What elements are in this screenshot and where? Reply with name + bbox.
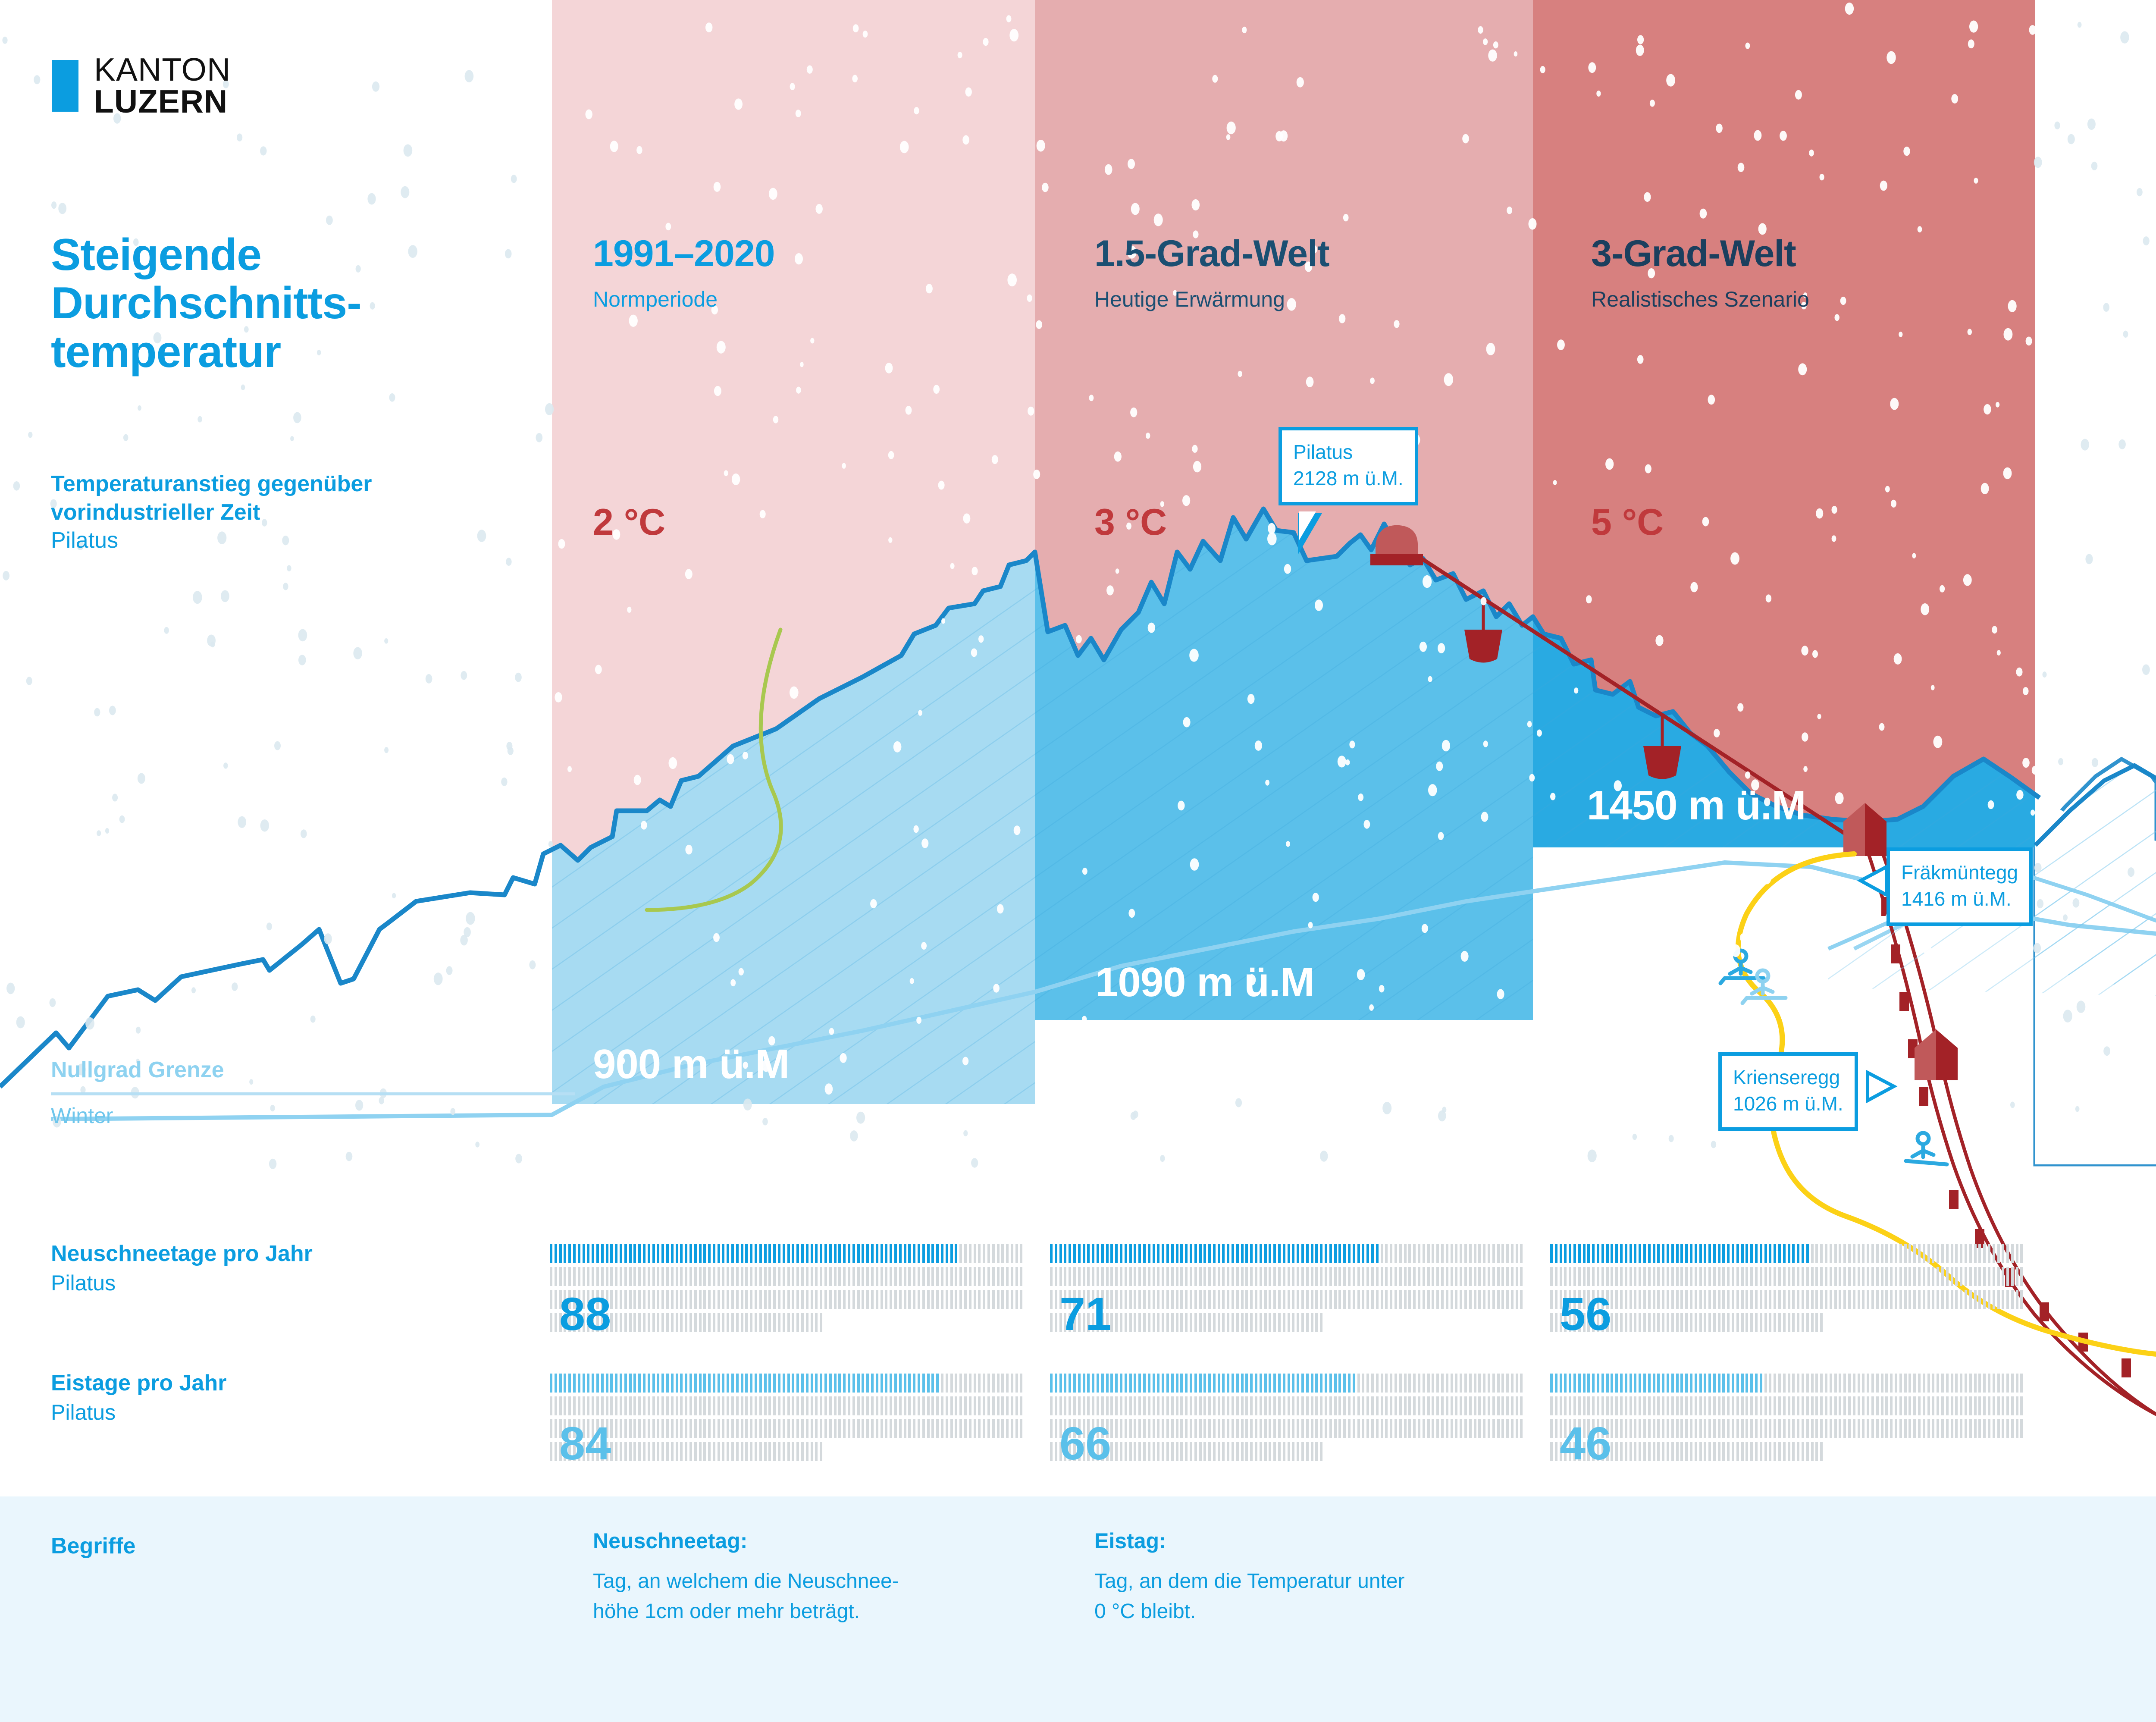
bar-tick bbox=[1615, 1267, 1618, 1286]
bar-tick bbox=[1423, 1290, 1425, 1309]
bar-tick bbox=[633, 1419, 636, 1438]
bar-tick bbox=[1185, 1313, 1188, 1332]
bar-tick bbox=[1208, 1313, 1211, 1332]
bar-tick bbox=[1436, 1419, 1439, 1438]
bar-tick bbox=[1662, 1396, 1664, 1415]
bar-tick bbox=[1904, 1374, 1907, 1393]
bar-tick bbox=[1685, 1290, 1688, 1309]
bar-tick bbox=[997, 1267, 1000, 1286]
bar-tick bbox=[1648, 1442, 1651, 1461]
bar-tick bbox=[1974, 1267, 1977, 1286]
bar-tick bbox=[1157, 1313, 1159, 1332]
bar-tick bbox=[1904, 1419, 1907, 1438]
bar-tick bbox=[606, 1267, 608, 1286]
bar-tick bbox=[680, 1290, 683, 1309]
bar-tick bbox=[1125, 1442, 1127, 1461]
bar-tick bbox=[1699, 1267, 1702, 1286]
bar-tick bbox=[1371, 1290, 1374, 1309]
bar-tick bbox=[778, 1396, 780, 1415]
bar-tick bbox=[918, 1396, 920, 1415]
bar-tick bbox=[1213, 1419, 1216, 1438]
bar-tick bbox=[2016, 1374, 2018, 1393]
bar-tick bbox=[1741, 1267, 1744, 1286]
bar-tick bbox=[685, 1244, 687, 1263]
bar-tick bbox=[718, 1244, 720, 1263]
bar-tick bbox=[1671, 1313, 1674, 1332]
bar-tick bbox=[959, 1374, 962, 1393]
bar-tick bbox=[1946, 1267, 1949, 1286]
bar-tick bbox=[787, 1290, 790, 1309]
bar-tick bbox=[2006, 1244, 2009, 1263]
bar-tick bbox=[1073, 1396, 1076, 1415]
bar-tick bbox=[1297, 1419, 1299, 1438]
bar-tick bbox=[1078, 1267, 1081, 1286]
bar-tick bbox=[1492, 1419, 1495, 1438]
bar-tick bbox=[1653, 1396, 1655, 1415]
bar-tick bbox=[1811, 1313, 1814, 1332]
scenario-header-1991-2020: 1991–2020 Normperiode bbox=[593, 235, 774, 310]
callout-fraekmuentegg: Fräkmüntegg 1416 m ü.M. bbox=[1887, 847, 2033, 926]
bar-tick bbox=[1343, 1419, 1346, 1438]
bar-tick bbox=[1176, 1442, 1178, 1461]
bar-tick bbox=[1788, 1442, 1790, 1461]
bar-tick bbox=[1315, 1374, 1318, 1393]
bar-tick bbox=[1288, 1290, 1290, 1309]
bar-tick bbox=[1983, 1419, 1986, 1438]
bar-tick bbox=[615, 1442, 617, 1461]
bar-tick bbox=[922, 1290, 925, 1309]
bar-tick bbox=[1978, 1290, 1981, 1309]
bar-tick bbox=[1764, 1313, 1767, 1332]
bar-tick bbox=[1222, 1419, 1225, 1438]
bar-tick bbox=[676, 1267, 678, 1286]
bar-tick bbox=[1020, 1290, 1022, 1309]
bar-tick bbox=[838, 1396, 841, 1415]
bar-tick bbox=[1120, 1419, 1122, 1438]
bar-tick bbox=[1685, 1313, 1688, 1332]
bar-tick bbox=[1676, 1244, 1679, 1263]
bar-tick bbox=[722, 1442, 724, 1461]
bar-tick bbox=[633, 1313, 636, 1332]
bar-tick bbox=[708, 1244, 711, 1263]
bar-tick bbox=[1713, 1442, 1716, 1461]
callout-pilatus: Pilatus 2128 m ü.M. bbox=[1279, 427, 1418, 505]
bar-tick bbox=[1213, 1396, 1216, 1415]
bar-tick bbox=[834, 1396, 837, 1415]
bar-tick bbox=[699, 1244, 702, 1263]
bar-tick bbox=[731, 1442, 734, 1461]
bar-tick bbox=[559, 1396, 562, 1415]
bar-tick bbox=[815, 1313, 818, 1332]
bar-tick bbox=[573, 1267, 576, 1286]
bar-tick bbox=[1657, 1374, 1660, 1393]
bar-tick bbox=[834, 1374, 837, 1393]
bar-tick bbox=[1690, 1419, 1692, 1438]
bar-tick bbox=[708, 1396, 711, 1415]
bar-tick bbox=[1634, 1396, 1636, 1415]
bar-tick bbox=[824, 1396, 827, 1415]
bar-tick bbox=[1436, 1374, 1439, 1393]
bar-tick bbox=[1148, 1374, 1150, 1393]
bar-row bbox=[550, 1313, 1025, 1332]
bar-tick bbox=[1455, 1290, 1457, 1309]
bar-tick bbox=[657, 1396, 659, 1415]
bar-tick bbox=[1871, 1419, 1874, 1438]
bar-tick bbox=[931, 1396, 934, 1415]
bar-tick bbox=[1166, 1419, 1169, 1438]
bar-tick bbox=[1639, 1313, 1641, 1332]
logo-mark-icon bbox=[52, 60, 78, 112]
bar-tick bbox=[1236, 1396, 1239, 1415]
bar-tick bbox=[1830, 1374, 1832, 1393]
bar-tick bbox=[1520, 1396, 1523, 1415]
bar-tick bbox=[1441, 1374, 1444, 1393]
bar-tick bbox=[974, 1419, 976, 1438]
bar-tick bbox=[992, 1374, 995, 1393]
bar-tick bbox=[731, 1290, 734, 1309]
bar-tick bbox=[1983, 1374, 1986, 1393]
bar-tick bbox=[1395, 1396, 1397, 1415]
bar-tick bbox=[1843, 1290, 1846, 1309]
bar-tick bbox=[1497, 1374, 1500, 1393]
bar-tick bbox=[1778, 1396, 1781, 1415]
bar-tick bbox=[1469, 1374, 1472, 1393]
bar-tick bbox=[1918, 1244, 1921, 1263]
bar-tick bbox=[997, 1290, 1000, 1309]
bar-tick bbox=[829, 1419, 832, 1438]
bar-tick bbox=[1560, 1267, 1562, 1286]
bar-tick bbox=[1260, 1419, 1262, 1438]
bar-tick bbox=[1932, 1374, 1934, 1393]
bar-tick bbox=[1516, 1290, 1518, 1309]
bar-tick bbox=[610, 1374, 613, 1393]
bar-tick bbox=[824, 1419, 827, 1438]
bar-tick bbox=[1138, 1244, 1141, 1263]
bar-tick bbox=[1418, 1396, 1420, 1415]
bar-tick bbox=[1704, 1374, 1706, 1393]
bar-tick bbox=[950, 1267, 953, 1286]
bar-tick bbox=[1292, 1267, 1294, 1286]
bar-tick bbox=[1059, 1244, 1062, 1263]
bar-tick bbox=[1245, 1244, 1248, 1263]
bar-tick bbox=[1769, 1267, 1771, 1286]
bar-tick bbox=[1802, 1267, 1804, 1286]
bar-tick bbox=[1732, 1374, 1734, 1393]
bar-tick bbox=[1255, 1374, 1257, 1393]
bar-tick bbox=[1413, 1290, 1416, 1309]
bar-tick bbox=[796, 1442, 799, 1461]
bar-tick bbox=[1255, 1396, 1257, 1415]
bar-tick bbox=[885, 1396, 887, 1415]
bar-tick bbox=[1255, 1313, 1257, 1332]
bar-tick bbox=[578, 1244, 580, 1263]
bar-tick bbox=[1797, 1313, 1799, 1332]
bar-tick bbox=[1338, 1290, 1341, 1309]
bar-tick bbox=[1848, 1419, 1851, 1438]
bar-row bbox=[1550, 1396, 2025, 1415]
bar-tick bbox=[1550, 1290, 1553, 1309]
bar-tick bbox=[718, 1374, 720, 1393]
bar-tick bbox=[1918, 1419, 1921, 1438]
bar-tick bbox=[1283, 1267, 1285, 1286]
bar-tick bbox=[834, 1290, 837, 1309]
bar-tick bbox=[1676, 1290, 1679, 1309]
bar-tick bbox=[852, 1419, 855, 1438]
bar-tick bbox=[1727, 1396, 1730, 1415]
bar-tick bbox=[1469, 1290, 1472, 1309]
callout-tail-pilatus-inner bbox=[1299, 511, 1316, 541]
bar-tick bbox=[1792, 1244, 1795, 1263]
bar-tick bbox=[1055, 1396, 1057, 1415]
bar-tick bbox=[1283, 1290, 1285, 1309]
bar-tick bbox=[792, 1374, 794, 1393]
bar-tick bbox=[922, 1374, 925, 1393]
bar-tick bbox=[694, 1419, 697, 1438]
bar-tick bbox=[1560, 1374, 1562, 1393]
bar-tick bbox=[601, 1374, 604, 1393]
bar-tick bbox=[1895, 1374, 1897, 1393]
bar-tick bbox=[1153, 1290, 1155, 1309]
bar-tick bbox=[824, 1290, 827, 1309]
bar-tick bbox=[866, 1419, 869, 1438]
bar-tick bbox=[792, 1267, 794, 1286]
bar-tick bbox=[685, 1442, 687, 1461]
bar-tick bbox=[699, 1267, 702, 1286]
bar-tick bbox=[1278, 1374, 1281, 1393]
bar-tick bbox=[750, 1244, 752, 1263]
bar-tick bbox=[1788, 1313, 1790, 1332]
bar-tick bbox=[699, 1442, 702, 1461]
bar-tick bbox=[727, 1419, 729, 1438]
bar-tick bbox=[666, 1290, 669, 1309]
scenario-title: 1991–2020 bbox=[593, 235, 774, 272]
bar-tick bbox=[1815, 1244, 1818, 1263]
bar-tick bbox=[643, 1290, 646, 1309]
bar-tick bbox=[1357, 1290, 1360, 1309]
bar-tick bbox=[1381, 1290, 1383, 1309]
bar-tick bbox=[1423, 1267, 1425, 1286]
bar-tick bbox=[1166, 1267, 1169, 1286]
bar-tick bbox=[1653, 1419, 1655, 1438]
bar-tick bbox=[1020, 1374, 1022, 1393]
bar-tick bbox=[1690, 1244, 1692, 1263]
bar-tick bbox=[1418, 1374, 1420, 1393]
bar-tick bbox=[1469, 1396, 1472, 1415]
bar-tick bbox=[1583, 1374, 1586, 1393]
bar-tick bbox=[1478, 1244, 1481, 1263]
bar-tick bbox=[1101, 1267, 1104, 1286]
bar-tick bbox=[1190, 1244, 1192, 1263]
bar-tick bbox=[1783, 1244, 1786, 1263]
bar-tick bbox=[1550, 1442, 1553, 1461]
bar-tick bbox=[1460, 1374, 1462, 1393]
bar-tick bbox=[587, 1374, 589, 1393]
bar-tick bbox=[1092, 1267, 1094, 1286]
bar-tick bbox=[904, 1244, 906, 1263]
bar-tick bbox=[1101, 1396, 1104, 1415]
bar-tick bbox=[1634, 1267, 1636, 1286]
bar-tick bbox=[1630, 1290, 1632, 1309]
bar-tick bbox=[1671, 1374, 1674, 1393]
page-title: Steigende Durchschnitts-temperatur bbox=[51, 231, 504, 376]
bar-tick bbox=[657, 1419, 659, 1438]
bar-tick bbox=[876, 1419, 878, 1438]
bar-tick bbox=[936, 1396, 939, 1415]
bar-tick bbox=[1001, 1244, 1004, 1263]
bar-tick bbox=[1385, 1374, 1388, 1393]
bar-tick bbox=[1325, 1374, 1327, 1393]
bar-tick bbox=[1620, 1396, 1623, 1415]
bar-tick bbox=[1890, 1290, 1893, 1309]
bar-tick bbox=[1264, 1244, 1267, 1263]
bar-tick bbox=[1260, 1267, 1262, 1286]
bar-tick bbox=[1806, 1313, 1809, 1332]
bar-tick bbox=[1969, 1419, 1972, 1438]
bar-tick bbox=[1583, 1267, 1586, 1286]
bar-tick bbox=[1260, 1244, 1262, 1263]
bar-tick bbox=[1695, 1442, 1697, 1461]
bar-tick bbox=[1399, 1244, 1402, 1263]
elevation-label-3-grad: 1450 m ü.M bbox=[1587, 785, 1806, 826]
bar-tick bbox=[1297, 1290, 1299, 1309]
bar-tick bbox=[1736, 1442, 1739, 1461]
bar-tick bbox=[1923, 1244, 1925, 1263]
bar-tick bbox=[1078, 1396, 1081, 1415]
bar-tick bbox=[811, 1396, 813, 1415]
bar-tick bbox=[1171, 1313, 1174, 1332]
bar-tick bbox=[1965, 1290, 1967, 1309]
bar-tick bbox=[1625, 1396, 1627, 1415]
zero-degree-legend: Nullgrad Grenze Winter bbox=[51, 1059, 575, 1126]
bar-tick bbox=[2011, 1396, 2014, 1415]
bar-tick bbox=[1630, 1396, 1632, 1415]
bar-tick bbox=[2016, 1396, 2018, 1415]
bar-tick bbox=[1676, 1313, 1679, 1332]
bar-tick bbox=[1306, 1313, 1309, 1332]
bar-tick bbox=[1001, 1267, 1004, 1286]
bar-tick bbox=[1745, 1290, 1748, 1309]
bar-tick bbox=[1769, 1442, 1771, 1461]
bar-tick bbox=[1736, 1396, 1739, 1415]
bar-tick bbox=[950, 1374, 953, 1393]
bar-row bbox=[550, 1267, 1025, 1286]
bar-tick bbox=[1676, 1374, 1679, 1393]
bar-tick bbox=[1292, 1419, 1294, 1438]
bar-tick bbox=[555, 1313, 557, 1332]
bar-tick bbox=[1620, 1267, 1623, 1286]
bar-tick bbox=[755, 1374, 757, 1393]
bar-tick bbox=[1630, 1244, 1632, 1263]
bar-tick bbox=[741, 1267, 743, 1286]
bar-tick bbox=[745, 1244, 748, 1263]
bar-tick bbox=[1769, 1419, 1771, 1438]
bar-tick bbox=[1446, 1396, 1448, 1415]
bar-tick bbox=[1427, 1290, 1430, 1309]
bar-tick bbox=[1788, 1267, 1790, 1286]
bar-tick bbox=[768, 1442, 771, 1461]
bar-tick bbox=[1713, 1290, 1716, 1309]
bar-tick bbox=[1020, 1244, 1022, 1263]
bar-tick bbox=[824, 1244, 827, 1263]
bar-tick bbox=[1001, 1290, 1004, 1309]
bar-tick bbox=[1020, 1267, 1022, 1286]
bar-tick bbox=[1592, 1267, 1595, 1286]
bar-tick bbox=[1788, 1396, 1790, 1415]
page-subtitle-text: Temperaturanstieg gegenüber vorindustrie… bbox=[51, 471, 372, 525]
bar-tick bbox=[1639, 1267, 1641, 1286]
bar-tick bbox=[559, 1374, 562, 1393]
bar-tick bbox=[592, 1396, 594, 1415]
bar-tick bbox=[741, 1244, 743, 1263]
bar-tick bbox=[610, 1396, 613, 1415]
bar-tick bbox=[1423, 1244, 1425, 1263]
bar-tick bbox=[1667, 1244, 1669, 1263]
bar-tick bbox=[1511, 1374, 1514, 1393]
scenario-subtitle: Normperiode bbox=[593, 289, 774, 310]
bar-tick bbox=[573, 1396, 576, 1415]
bar-tick bbox=[1325, 1244, 1327, 1263]
bar-tick bbox=[727, 1313, 729, 1332]
bar-tick bbox=[1745, 1419, 1748, 1438]
bar-tick bbox=[1745, 1267, 1748, 1286]
bar-tick bbox=[1802, 1290, 1804, 1309]
bar-tick bbox=[1011, 1244, 1013, 1263]
bar-tick bbox=[773, 1244, 776, 1263]
bar-tick bbox=[848, 1244, 850, 1263]
bar-tick bbox=[1015, 1244, 1018, 1263]
bar-tick bbox=[1185, 1419, 1188, 1438]
bar-tick bbox=[964, 1374, 967, 1393]
bar-tick bbox=[624, 1290, 627, 1309]
bar-tick bbox=[606, 1374, 608, 1393]
bar-tick bbox=[1648, 1267, 1651, 1286]
bar-tick bbox=[1564, 1244, 1567, 1263]
bar-tick bbox=[1853, 1374, 1855, 1393]
bar-tick bbox=[657, 1244, 659, 1263]
bar-row bbox=[1550, 1244, 2025, 1263]
bar-tick bbox=[1578, 1244, 1581, 1263]
bar-tick bbox=[1520, 1374, 1523, 1393]
bar-tick bbox=[1306, 1419, 1309, 1438]
bar-tick bbox=[1923, 1419, 1925, 1438]
bar-tick bbox=[648, 1244, 650, 1263]
bar-tick bbox=[1760, 1267, 1762, 1286]
bar-tick bbox=[1569, 1396, 1571, 1415]
bar-tick bbox=[1381, 1374, 1383, 1393]
bar-tick bbox=[871, 1396, 874, 1415]
bar-tick bbox=[1395, 1290, 1397, 1309]
bar-tick bbox=[1143, 1419, 1146, 1438]
bar-tick bbox=[615, 1313, 617, 1332]
bar-tick bbox=[1965, 1244, 1967, 1263]
bar-tick bbox=[1802, 1442, 1804, 1461]
bar-tick bbox=[1955, 1290, 1958, 1309]
bar-tick bbox=[648, 1267, 650, 1286]
bar-tick bbox=[871, 1374, 874, 1393]
bar-tick bbox=[1839, 1396, 1841, 1415]
bar-tick bbox=[1965, 1267, 1967, 1286]
bar-tick bbox=[1937, 1396, 1939, 1415]
bar-tick bbox=[1334, 1374, 1337, 1393]
bar-tick bbox=[1162, 1313, 1164, 1332]
bar-tick bbox=[1778, 1290, 1781, 1309]
bar-tick bbox=[741, 1290, 743, 1309]
bar-tick bbox=[862, 1396, 864, 1415]
bar-tick bbox=[1825, 1290, 1827, 1309]
bar-tick bbox=[1218, 1267, 1220, 1286]
bar-tick bbox=[1722, 1419, 1725, 1438]
bar-tick bbox=[1815, 1419, 1818, 1438]
